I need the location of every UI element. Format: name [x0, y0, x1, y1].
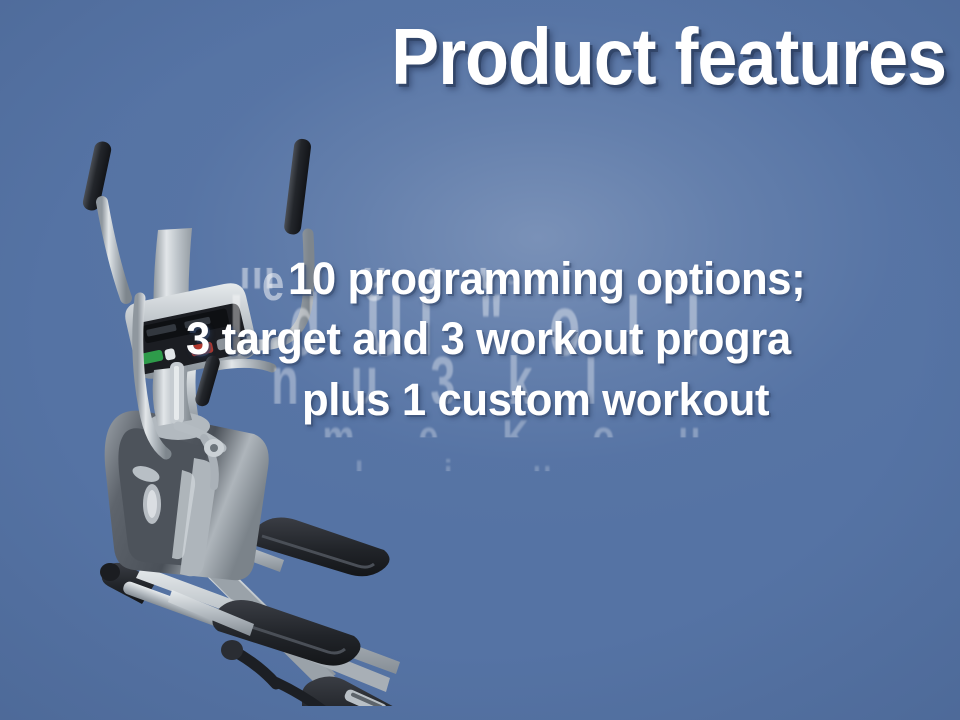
caption-line-1: 10 programming options;: [288, 256, 805, 301]
caption-line-3: plus 1 custom workout: [302, 377, 769, 422]
ghost-text-line-b: I d UI " o I I: [229, 275, 716, 376]
slide-canvas: Product features: [0, 0, 960, 720]
ghost-text-line-d: m e K o u: [323, 412, 728, 466]
page-title: Product features: [95, 14, 946, 100]
ghost-text-line-e: I i u: [355, 454, 588, 493]
ghost-text-line-f: o a n t: [420, 258, 714, 292]
ghost-text-line-c: n u 3 k I: [271, 340, 617, 421]
ghost-text-line-a: m i g f t: [240, 248, 505, 304]
caption-line-2: 3 target and 3 workout progra: [186, 316, 791, 361]
stray-ghost-glyph: e: [262, 256, 284, 312]
ghost-text-layer: m i g f t I d UI " o I I n u 3 k I m e K…: [0, 248, 960, 508]
caption-text-layer: e 10 programming options; 3 target and 3…: [0, 248, 960, 508]
animated-text-block: m i g f t I d UI " o I I n u 3 k I m e K…: [0, 248, 960, 508]
